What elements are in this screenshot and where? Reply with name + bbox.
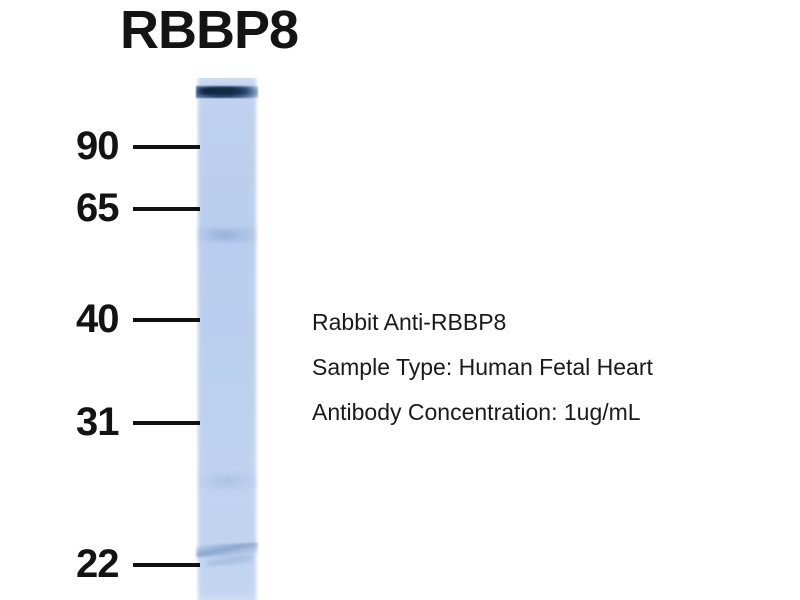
faint-band-22-secondary [207,555,253,566]
mw-label-22: 22 [76,544,119,584]
annotation-antibody: Rabbit Anti-RBBP8 [312,310,752,336]
mw-tick-40 [133,318,200,322]
mw-tick-31 [133,421,200,425]
faint-band-mid [196,228,258,242]
mw-label-90: 90 [76,126,119,166]
faint-band-22 [196,543,258,557]
western-blot-figure: RBBP8 90 65 40 31 22 Rabbit Anti-RBBP8 S… [0,0,800,600]
mw-label-31: 31 [76,402,119,442]
page-title: RBBP8 [120,2,298,59]
lane-left-edge [196,78,200,600]
annotation-block: Rabbit Anti-RBBP8 Sample Type: Human Fet… [312,310,752,425]
mw-tick-22 [133,563,200,567]
primary-band [196,86,258,98]
annotation-sample-type: Sample Type: Human Fetal Heart [312,355,752,381]
primary-band-core [198,88,250,94]
mw-label-65: 65 [76,188,119,228]
mw-tick-65 [133,207,200,211]
mw-tick-90 [133,145,200,149]
faint-band-low [196,473,258,489]
mw-label-40: 40 [76,299,119,339]
lane-right-edge [254,78,258,600]
gel-lane [196,78,258,600]
annotation-concentration: Antibody Concentration: 1ug/mL [312,400,752,426]
